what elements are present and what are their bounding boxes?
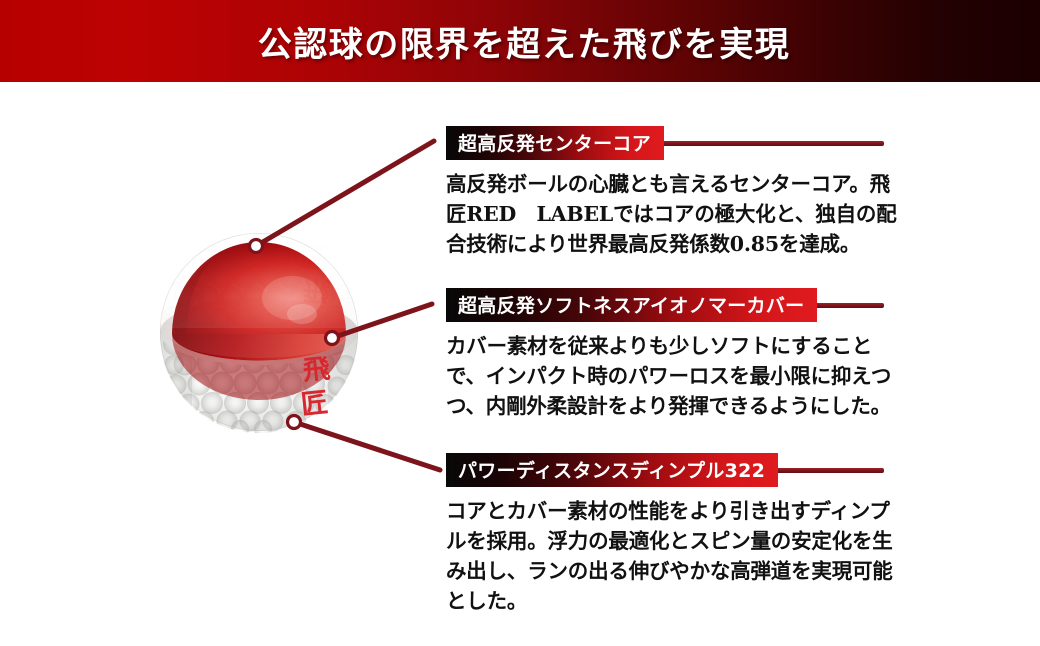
- callout-body-text: コアとカバー素材の性能をより引き出すディンプルを採用。浮力の最適化とスピン量の安…: [446, 497, 898, 617]
- callout-tag-row: パワーディスタンスディンプル322: [446, 453, 916, 487]
- svg-text:飛: 飛: [301, 273, 331, 307]
- callout-tag-row: 超高反発ソフトネスアイオノマーカバー: [446, 288, 916, 322]
- callout-tag-row: 超高反発センターコア: [446, 126, 916, 160]
- callout-center-core: 超高反発センターコア 高反発ボールの心臓とも言えるセンターコア。飛匠RED LA…: [446, 126, 916, 260]
- golf-ball-reflection-svg: 飛 匠: [152, 224, 366, 438]
- svg-text:匠: 匠: [299, 239, 329, 273]
- callout-softness-ionomer-cover: 超高反発ソフトネスアイオノマーカバー カバー素材を従来よりも少しソフトにすること…: [446, 288, 916, 422]
- golf-ball-reflection: 飛 匠: [152, 224, 366, 438]
- callout-tag-label: パワーディスタンスディンプル322: [446, 453, 778, 487]
- golf-ball-illustration: 飛 匠: [152, 222, 366, 622]
- callout-power-distance-dimple: パワーディスタンスディンプル322 コアとカバー素材の性能をより引き出すディンプ…: [446, 453, 916, 617]
- page-title: 公認球の限界を超えた飛びを実現: [0, 0, 1040, 82]
- callout-tag-label: 超高反発ソフトネスアイオノマーカバー: [446, 288, 817, 322]
- callout-body-text: カバー素材を従来よりも少しソフトにすることで、インパクト時のパワーロスを最小限に…: [446, 332, 898, 422]
- tag-rule: [656, 141, 884, 146]
- product-infographic: 公認球の限界を超えた飛びを実現: [0, 0, 1040, 646]
- callout-tag-label: 超高反発センターコア: [446, 126, 664, 160]
- callout-body-text: 高反発ボールの心臓とも言えるセンターコア。飛匠RED LABELではコアの極大化…: [446, 170, 898, 260]
